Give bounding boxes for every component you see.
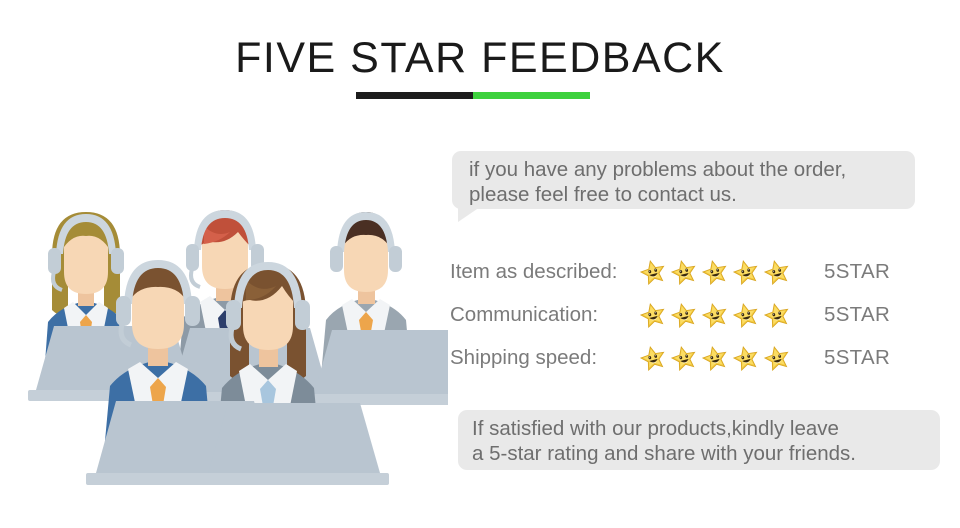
table-row: Shipping speed: [450, 336, 920, 379]
rating-value-communication: 5STAR [802, 303, 890, 327]
contact-message-text: if you have any problems about the order… [469, 157, 909, 207]
rating-value-item-as-described: 5STAR [802, 260, 890, 284]
laptop-front-right [199, 403, 389, 485]
leave-rating-text: If satisfied with our products,kindly le… [472, 416, 938, 466]
smiling-star-icon [671, 302, 697, 328]
smiling-star-icon [733, 302, 759, 328]
smiling-star-icon [640, 345, 666, 371]
rating-stars-item-as-described [640, 259, 802, 285]
table-row: Item as described: [450, 250, 920, 293]
leave-rating-bubble: If satisfied with our products,kindly le… [458, 410, 940, 470]
contact-message-line2: please feel free to contact us. [469, 183, 737, 206]
page-title: FIVE STAR FEEDBACK [0, 34, 960, 83]
smiling-star-icon [702, 259, 728, 285]
contact-message-bubble: if you have any problems about the order… [452, 151, 915, 209]
smiling-star-icon [640, 259, 666, 285]
title-divider [356, 92, 590, 99]
smiling-star-icon [702, 302, 728, 328]
rating-label-item-as-described: Item as described: [450, 260, 640, 284]
smiling-star-icon [733, 345, 759, 371]
rating-label-communication: Communication: [450, 303, 640, 327]
table-row: Communication: [450, 293, 920, 336]
customer-service-team-illustration [18, 196, 448, 486]
contact-message-line1: if you have any problems about the order… [469, 158, 846, 181]
smiling-star-icon [764, 345, 790, 371]
rating-value-shipping-speed: 5STAR [802, 346, 890, 370]
leave-rating-line1: If satisfied with our products,kindly le… [472, 417, 839, 440]
smiling-star-icon [733, 259, 759, 285]
rating-stars-communication [640, 302, 802, 328]
smiling-star-icon [671, 345, 697, 371]
smiling-star-icon [640, 302, 666, 328]
smiling-star-icon [671, 259, 697, 285]
smiling-star-icon [702, 345, 728, 371]
leave-rating-line2: a 5-star rating and share with your frie… [472, 442, 856, 465]
rating-label-shipping-speed: Shipping speed: [450, 346, 640, 370]
rating-list: Item as described: [450, 250, 920, 379]
divider-segment-dark [356, 92, 473, 99]
feedback-banner: FIVE STAR FEEDBACK [0, 0, 960, 528]
smiling-star-icon [764, 302, 790, 328]
smiling-star-icon [764, 259, 790, 285]
contact-message-bubble-tail [458, 207, 480, 222]
divider-segment-accent [473, 92, 590, 99]
rating-stars-shipping-speed [640, 345, 802, 371]
